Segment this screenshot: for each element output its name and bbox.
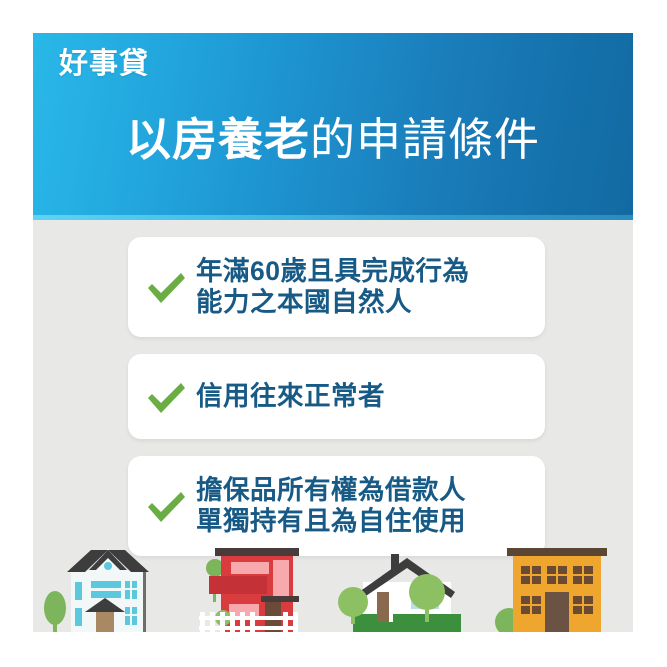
- house-red-modern-icon: [183, 540, 333, 632]
- brand-logo: 好事貸: [59, 50, 149, 79]
- conditions-list: 年滿60歲且具完成行為 能力之本國自然人 信用往來正常者 擔保品所有權為借款人 …: [128, 237, 545, 573]
- house-slot: [33, 540, 183, 632]
- condition-card: 信用往來正常者: [128, 354, 545, 439]
- house-orange-apartment-icon: [483, 540, 633, 632]
- condition-text: 信用往來正常者: [196, 381, 385, 412]
- house-white-two-story-icon: [33, 540, 183, 632]
- page-title-light: 的申請條件: [310, 114, 540, 165]
- content-panel: 年滿60歲且具完成行為 能力之本國自然人 信用往來正常者 擔保品所有權為借款人 …: [33, 220, 633, 632]
- house-white-cottage-icon: [333, 540, 483, 632]
- condition-text: 擔保品所有權為借款人 單獨持有且為自住使用: [196, 475, 466, 537]
- page-title: 以房養老的申請條件: [33, 117, 633, 162]
- house-slot: [333, 540, 483, 632]
- page-title-strong: 以房養老: [126, 114, 310, 165]
- check-icon: [142, 482, 190, 530]
- header-banner: 好事貸 以房養老的申請條件: [33, 33, 633, 215]
- check-icon: [142, 263, 190, 311]
- infographic-page: 好事貸 以房養老的申請條件 年滿60歲且具完成行為 能力之本國自然人 信用往來正…: [0, 0, 667, 667]
- house-slot: [483, 540, 633, 632]
- condition-card: 年滿60歲且具完成行為 能力之本國自然人: [128, 237, 545, 337]
- house-slot: [183, 540, 333, 632]
- condition-text: 年滿60歲且具完成行為 能力之本國自然人: [196, 256, 469, 318]
- check-icon: [142, 373, 190, 421]
- house-illustration-row: [33, 540, 633, 632]
